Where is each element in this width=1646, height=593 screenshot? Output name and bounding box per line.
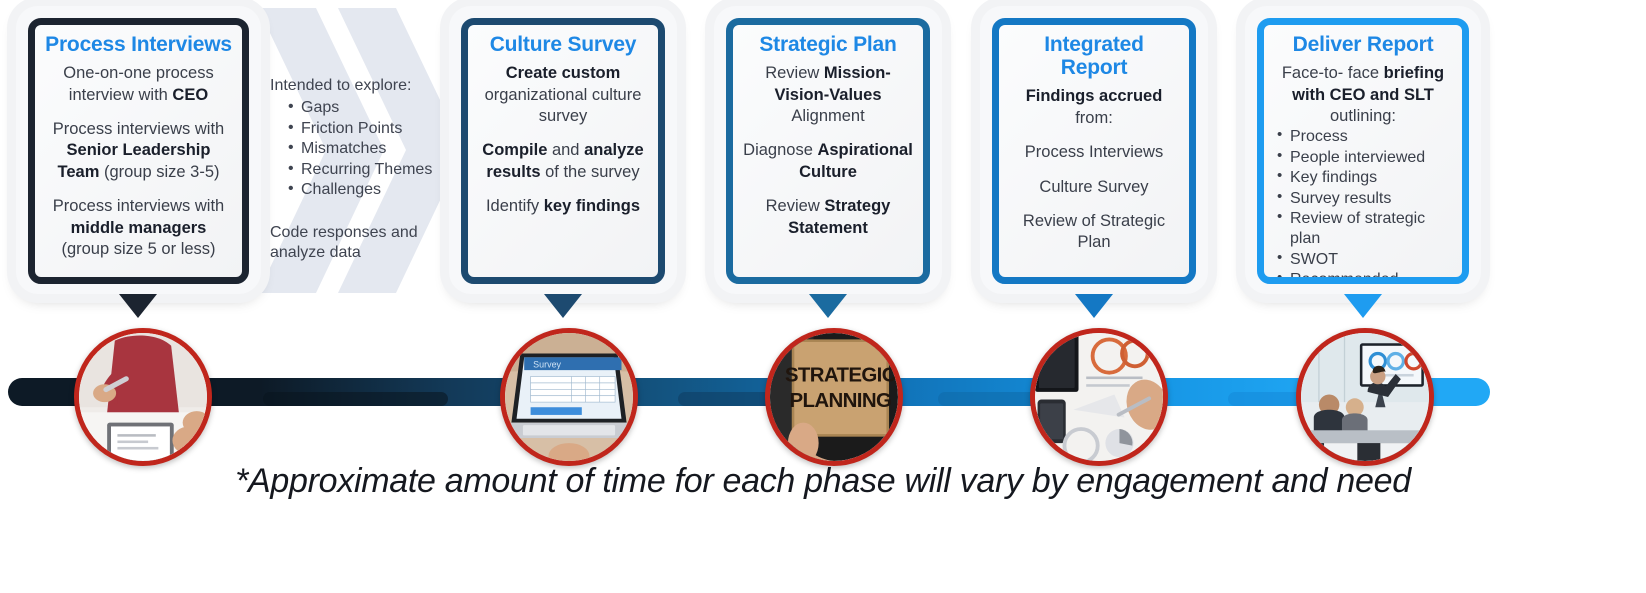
svg-text:STRATEGIC: STRATEGIC <box>785 364 897 387</box>
circle-integrated-report[interactable] <box>1030 328 1168 466</box>
svg-text:PLANNING: PLANNING <box>790 389 892 412</box>
card-body: Face-to- face briefing with CEO and SLT … <box>1274 63 1452 127</box>
card-title: Deliver Report <box>1274 33 1452 56</box>
pointer-triangle-4 <box>1075 294 1113 318</box>
svg-text:Survey: Survey <box>533 360 561 370</box>
explore-list-item: Friction Points <box>288 119 450 139</box>
card-paragraph: Face-to- face briefing with CEO and SLT … <box>1274 63 1452 127</box>
card-title: Strategic Plan <box>743 33 913 56</box>
card-paragraph: Process interviews with middle managers … <box>45 196 232 260</box>
laptop-showing-survey-form-photo: Survey <box>505 333 633 461</box>
card-bullet-item: Survey results <box>1274 189 1452 209</box>
card-paragraph: Review Mission-Vision-Values Alignment <box>743 63 913 127</box>
card-paragraph: Culture Survey <box>1009 177 1179 198</box>
pointer-triangle-1 <box>119 294 157 318</box>
phase-card-culture-survey[interactable]: Culture Survey Create custom organizatio… <box>449 6 677 294</box>
hand-holding-strategic-planning-sign-photo: STRATEGIC PLANNING <box>770 333 898 461</box>
card-bullet-item: Key findings <box>1274 168 1452 188</box>
explore-tail: Code responses and analyze data <box>270 223 450 264</box>
card-title: Integrated Report <box>1009 33 1179 79</box>
circle-strategic-plan[interactable]: STRATEGIC PLANNING <box>765 328 903 466</box>
card-paragraph: Findings accrued from: <box>1009 86 1179 129</box>
two-people-at-desk-with-documents-photo <box>79 333 207 461</box>
circle-deliver-report[interactable] <box>1296 328 1434 466</box>
desk-with-charts-and-tablet-photo <box>1035 333 1163 461</box>
explore-list-item: Recurring Themes <box>288 160 450 180</box>
card-bullet-item: People interviewed <box>1274 148 1452 168</box>
card-paragraph: One-on-one process interview with CEO <box>45 63 232 106</box>
explore-list-item: Gaps <box>288 98 450 118</box>
phase-card-integrated-report[interactable]: Integrated Report Findings accrued from:… <box>980 6 1208 294</box>
phase-card-strategic-plan[interactable]: Strategic Plan Review Mission-Vision-Val… <box>714 6 942 294</box>
footnote-caption: *Approximate amount of time for each pha… <box>0 462 1646 501</box>
card-title: Culture Survey <box>478 33 648 56</box>
circle-process-interviews[interactable] <box>74 328 212 466</box>
card-paragraph: Review of Strategic Plan <box>1009 211 1179 254</box>
explore-lead: Intended to explore: <box>270 76 450 96</box>
card-body: Findings accrued from:Process Interviews… <box>1009 86 1179 254</box>
card-paragraph: Create custom organizational culture sur… <box>478 63 648 127</box>
card-paragraph: Process Interviews <box>1009 142 1179 163</box>
explore-list: Gaps Friction Points Mismatches Recurrin… <box>270 98 450 200</box>
card-bullet-item: Process <box>1274 127 1452 147</box>
circle-culture-survey[interactable]: Survey <box>500 328 638 466</box>
card-paragraph: Review Strategy Statement <box>743 196 913 239</box>
card-bullet-item: SWOT <box>1274 250 1452 270</box>
card-bullet-item: Recommended actions <box>1274 270 1452 284</box>
card-paragraph: Process interviews with Senior Leadershi… <box>45 119 232 183</box>
card-bullet-list: ProcessPeople interviewedKey findingsSur… <box>1274 127 1452 284</box>
explore-list-item: Challenges <box>288 180 450 200</box>
timeline-segment <box>263 392 448 406</box>
card-title: Process Interviews <box>45 33 232 56</box>
card-paragraph: Compile and analyze results of the surve… <box>478 140 648 183</box>
phase-card-process-interviews[interactable]: Process Interviews One-on-one process in… <box>16 6 261 294</box>
card-paragraph: Diagnose Aspirational Culture <box>743 140 913 183</box>
pointer-triangle-5 <box>1344 294 1382 318</box>
card-paragraph: Identify key findings <box>478 196 648 217</box>
card-body: Review Mission-Vision-Values AlignmentDi… <box>743 63 913 239</box>
pointer-triangle-3 <box>809 294 847 318</box>
presenter-briefing-team-in-boardroom-photo <box>1301 333 1429 461</box>
explore-list-item: Mismatches <box>288 139 450 159</box>
card-body: Create custom organizational culture sur… <box>478 63 648 218</box>
card-bullet-item: Review of strategic plan <box>1274 209 1452 248</box>
pointer-triangle-2 <box>544 294 582 318</box>
explore-text-block: Intended to explore: Gaps Friction Point… <box>270 76 450 264</box>
card-body: One-on-one process interview with CEOPro… <box>45 63 232 261</box>
phase-card-deliver-report[interactable]: Deliver Report Face-to- face briefing wi… <box>1245 6 1481 294</box>
timeline-bar <box>8 378 1490 406</box>
